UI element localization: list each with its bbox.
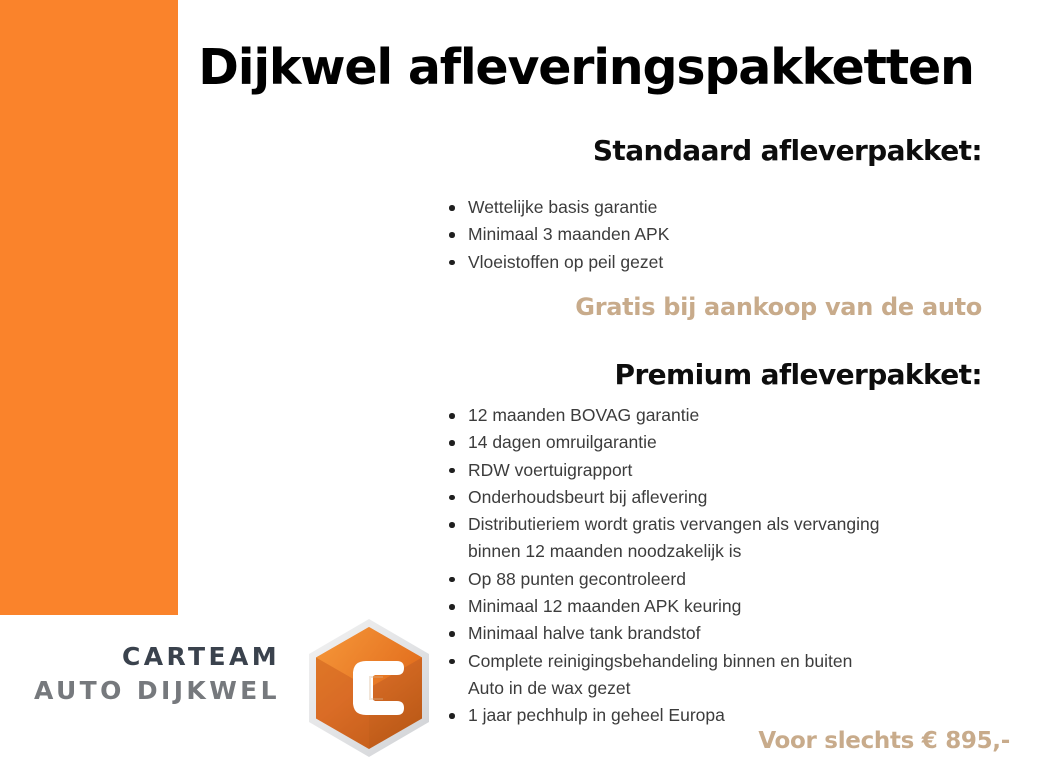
- list-item-label: 1 jaar pechhulp in geheel Europa: [468, 705, 725, 725]
- list-item: Vloeistoffen op peil gezet: [448, 249, 1008, 276]
- standard-package-heading: Standaard afleverpakket:: [282, 136, 982, 167]
- premium-package-list: 12 maanden BOVAG garantie 14 dagen omrui…: [448, 402, 1008, 730]
- list-item: Wettelijke basis garantie: [448, 194, 1008, 221]
- list-item-label-line2: binnen 12 maanden noodzakelijk is: [468, 538, 1008, 565]
- list-item-label-line2: Auto in de wax gezet: [468, 675, 1008, 702]
- standard-package-list: Wettelijke basis garantie Minimaal 3 maa…: [448, 194, 1008, 276]
- list-item-label: Op 88 punten gecontroleerd: [468, 569, 686, 589]
- list-item: 14 dagen omruilgarantie: [448, 429, 1008, 456]
- list-item-label: RDW voertuigrapport: [468, 460, 632, 480]
- list-item-label: Wettelijke basis garantie: [468, 197, 657, 217]
- list-item: Complete reinigingsbehandeling binnen en…: [448, 648, 1008, 703]
- list-item: Op 88 punten gecontroleerd: [448, 566, 1008, 593]
- brand-name: CARTEAM: [0, 640, 280, 674]
- page-title: Dijkwel afleveringspakketten: [190, 42, 982, 93]
- list-item-label: Minimaal 12 maanden APK keuring: [468, 596, 741, 616]
- list-item: Minimaal 12 maanden APK keuring: [448, 593, 1008, 620]
- list-item-label-line1: Complete reinigingsbehandeling binnen en…: [468, 648, 1008, 675]
- list-item-label-line1: Distributieriem wordt gratis vervangen a…: [468, 511, 1008, 538]
- brand-wordmark: CARTEAM AUTO DIJKWEL: [0, 640, 280, 708]
- list-item-label: Onderhoudsbeurt bij aflevering: [468, 487, 707, 507]
- brand-subname: AUTO DIJKWEL: [0, 674, 280, 708]
- list-item: 1 jaar pechhulp in geheel Europa: [448, 702, 1008, 729]
- premium-package-heading: Premium afleverpakket:: [282, 360, 982, 391]
- list-item-label: Minimaal halve tank brandstof: [468, 623, 700, 643]
- list-item-label: 12 maanden BOVAG garantie: [468, 405, 699, 425]
- list-item: Minimaal halve tank brandstof: [448, 620, 1008, 647]
- list-item: 12 maanden BOVAG garantie: [448, 402, 1008, 429]
- carteam-hexagon-c-logo-icon: [303, 616, 435, 760]
- list-item: RDW voertuigrapport: [448, 457, 1008, 484]
- list-item: Minimaal 3 maanden APK: [448, 221, 1008, 248]
- standard-package-promo: Gratis bij aankoop van de auto: [282, 293, 982, 321]
- orange-accent-block: [0, 0, 178, 615]
- list-item-label: 14 dagen omruilgarantie: [468, 432, 657, 452]
- list-item-label: Vloeistoffen op peil gezet: [468, 252, 663, 272]
- list-item: Onderhoudsbeurt bij aflevering: [448, 484, 1008, 511]
- list-item: Distributieriem wordt gratis vervangen a…: [448, 511, 1008, 566]
- list-item-label: Minimaal 3 maanden APK: [468, 224, 669, 244]
- poster-canvas: Dijkwel afleveringspakketten Standaard a…: [0, 0, 1064, 768]
